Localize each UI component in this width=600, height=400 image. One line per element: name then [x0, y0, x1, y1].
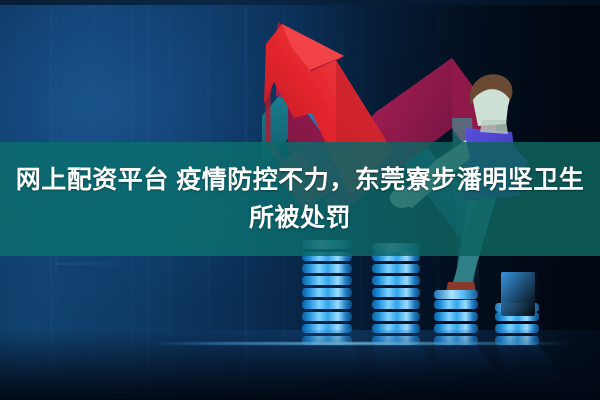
- headline-text: 网上配资平台 疫情防控不力，东莞寮步潘明坚卫生所被处罚: [0, 142, 600, 256]
- banknote-card: [501, 272, 535, 316]
- bottom-fade: [0, 330, 600, 400]
- news-banner: 网上配资平台 疫情防控不力，东莞寮步潘明坚卫生所被处罚: [0, 0, 600, 400]
- person-neck: [480, 120, 508, 134]
